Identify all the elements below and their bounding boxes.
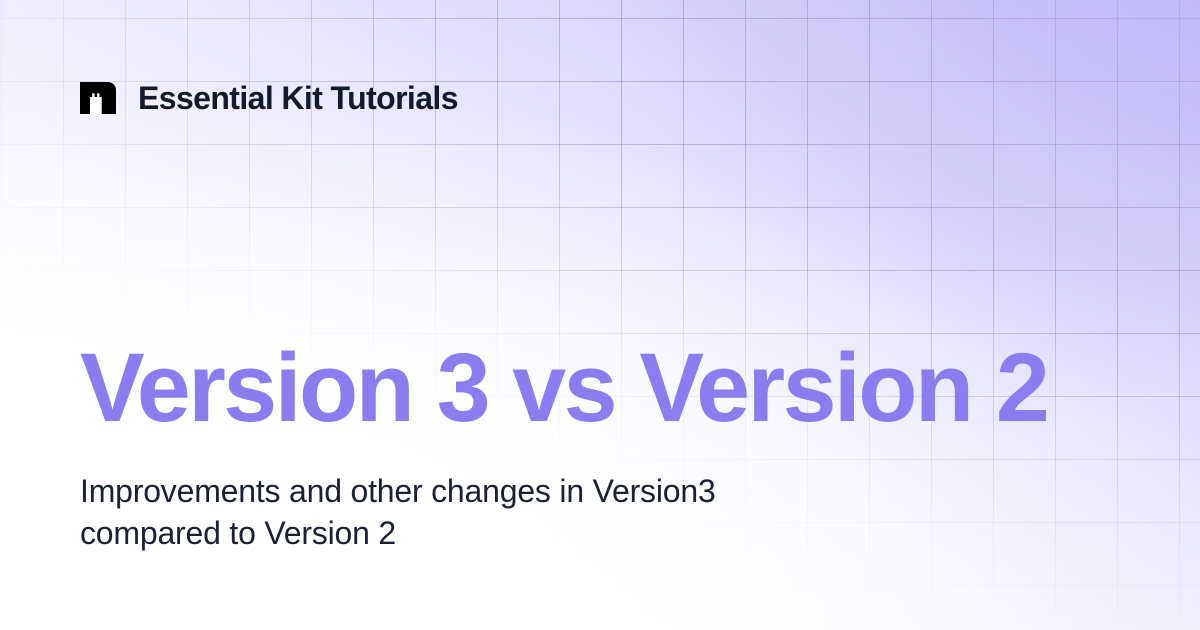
page-subtitle: Improvements and other changes in Versio… <box>80 470 900 554</box>
page-subtitle-line-2: compared to Version 2 <box>80 512 900 554</box>
card-content: Essential Kit Tutorials Version 3 vs Ver… <box>0 0 1200 630</box>
page-subtitle-line-1: Improvements and other changes in Versio… <box>80 470 900 512</box>
brand-name: Essential Kit Tutorials <box>138 82 458 114</box>
brand-row: Essential Kit Tutorials <box>80 82 458 114</box>
monument-mark-icon <box>80 82 116 114</box>
og-card: Essential Kit Tutorials Version 3 vs Ver… <box>0 0 1200 630</box>
page-title: Version 3 vs Version 2 <box>80 337 1140 440</box>
